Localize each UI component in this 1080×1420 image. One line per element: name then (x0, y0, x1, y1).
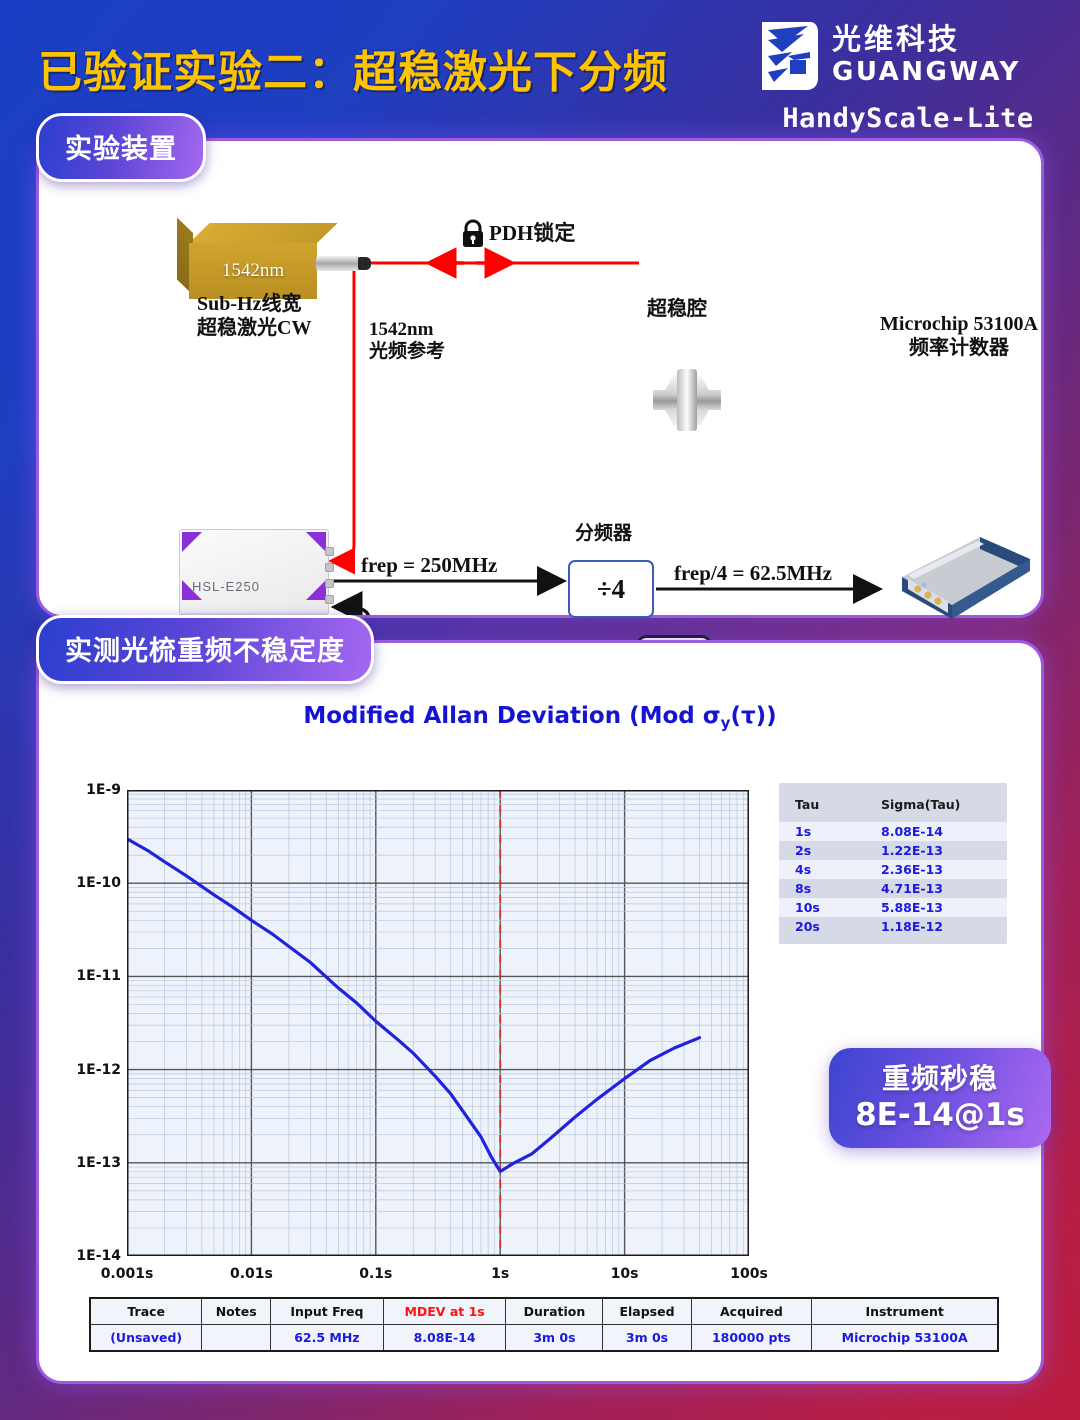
brand-name-cn: 光维科技 (832, 25, 1021, 54)
x-tick-label: 0.1s (346, 1266, 406, 1282)
meta-data-cell: (Unsaved) (90, 1325, 202, 1352)
meta-header-cell: Acquired (691, 1298, 812, 1325)
plot-svg (127, 790, 749, 1256)
y-tick-label: 1E-10 (63, 875, 121, 891)
badge-line-1: 重频秒稳 (882, 1064, 998, 1095)
tau-value: 20s (795, 919, 881, 934)
measurement-chart-card: 实测光梳重频不稳定度 Modified Allan Deviation (Mod… (36, 640, 1044, 1384)
hsl-device-marking: HSL-E250 (192, 579, 260, 594)
sigma-value: 4.71E-13 (881, 881, 943, 896)
laser-output-port (316, 256, 360, 271)
brand-name-en: GUANGWAY (832, 59, 1021, 85)
tau-table-row: 8s4.71E-13 (779, 879, 1007, 898)
chart-title: Modified Allan Deviation (Mod σy(τ)) (39, 703, 1041, 732)
meta-header-cell: Duration (506, 1298, 603, 1325)
frequency-divider-box: ÷4 (568, 560, 654, 618)
counter-caption: Microchip 53100A 频率计数器 (839, 313, 1079, 360)
tau-table-row: 10s5.88E-13 (779, 898, 1007, 917)
x-tick-label: 0.001s (97, 1266, 157, 1282)
tau-col-header: Tau (795, 797, 881, 812)
badge-line-2: 8E-14@1s (855, 1098, 1025, 1132)
lock-icon (460, 219, 486, 249)
divider-ratio: ÷4 (597, 574, 625, 605)
trace-meta-table: TraceNotesInput FreqMDEV at 1sDurationEl… (89, 1297, 999, 1352)
sigma-value: 5.88E-13 (881, 900, 943, 915)
tau-table-row: 4s2.36E-13 (779, 860, 1007, 879)
meta-table-header-row: TraceNotesInput FreqMDEV at 1sDurationEl… (90, 1298, 998, 1325)
sigma-value: 8.08E-14 (881, 824, 943, 839)
y-tick-label: 1E-12 (63, 1062, 121, 1078)
y-tick-label: 1E-14 (63, 1248, 121, 1264)
sigma-value: 2.36E-13 (881, 862, 943, 877)
stability-highlight-badge: 重频秒稳 8E-14@1s (829, 1048, 1051, 1148)
product-name: HandyScale-Lite (758, 103, 1058, 134)
frep-input-label: frep = 250MHz (361, 553, 497, 578)
tau-value: 10s (795, 900, 881, 915)
meta-data-cell (202, 1325, 271, 1352)
pdh-lock-label: PDH锁定 (489, 221, 575, 246)
divider-title: 分频器 (575, 523, 632, 545)
microchip-53100a-counter (884, 519, 1036, 631)
sigma-value: 1.22E-13 (881, 843, 943, 858)
meta-data-cell: 3m 0s (603, 1325, 691, 1352)
y-tick-label: 1E-9 (63, 782, 121, 798)
meta-data-cell: Microchip 53100A (812, 1325, 998, 1352)
tau-value: 8s (795, 881, 881, 896)
meta-header-cell: Notes (202, 1298, 271, 1325)
x-tick-label: 0.01s (221, 1266, 281, 1282)
cavity-caption: 超稳腔 (647, 298, 707, 322)
page-title: 已验证实验二：超稳激光下分频 (38, 36, 668, 100)
ultrastable-cavity-device (635, 369, 739, 431)
sigma-col-header: Sigma(Tau) (881, 797, 960, 812)
tau-table-row: 20s1.18E-12 (779, 917, 1007, 936)
meta-data-cell: 8.08E-14 (383, 1325, 506, 1352)
y-tick-label: 1E-13 (63, 1155, 121, 1171)
tau-value: 2s (795, 843, 881, 858)
allan-deviation-plot (127, 790, 749, 1256)
meta-header-cell: Elapsed (603, 1298, 691, 1325)
x-tick-label: 10s (595, 1266, 655, 1282)
meta-data-cell: 180000 pts (691, 1325, 812, 1352)
sigma-value: 1.18E-12 (881, 919, 943, 934)
laser-wavelength-label: 1542nm (189, 243, 317, 299)
meta-table-data-row: (Unsaved)62.5 MHz8.08E-143m 0s3m 0s18000… (90, 1325, 998, 1352)
meta-header-cell: MDEV at 1s (383, 1298, 506, 1325)
tau-value: 1s (795, 824, 881, 839)
optical-reference-label: 1542nm 光频参考 (369, 319, 445, 364)
tau-sigma-table: Tau Sigma(Tau) 1s8.08E-142s1.22E-134s2.3… (779, 783, 1007, 944)
tau-table-row: 1s8.08E-14 (779, 822, 1007, 841)
y-tick-label: 1E-11 (63, 968, 121, 984)
tau-table-row: 2s1.22E-13 (779, 841, 1007, 860)
meta-header-cell: Instrument (812, 1298, 998, 1325)
tau-table-header: Tau Sigma(Tau) (779, 789, 1007, 822)
meta-data-cell: 62.5 MHz (271, 1325, 384, 1352)
setup-diagram: 1542nm Sub-Hz线宽 超稳激光CW PDH锁定 超稳腔 1542nm … (39, 141, 1041, 615)
chart-card-pill: 实测光梳重频不稳定度 (36, 615, 374, 684)
laser-caption: Sub-Hz线宽 超稳激光CW (197, 293, 311, 340)
meta-header-cell: Input Freq (271, 1298, 384, 1325)
guangway-logo-icon (758, 16, 820, 94)
experiment-setup-card: 实验装置 (36, 138, 1044, 618)
meta-data-cell: 3m 0s (506, 1325, 603, 1352)
frep-output-label: frep/4 = 62.5MHz (674, 561, 832, 586)
x-tick-label: 1s (470, 1266, 530, 1282)
meta-header-cell: Trace (90, 1298, 202, 1325)
tau-value: 4s (795, 862, 881, 877)
brand-logo-block: 光维科技 GUANGWAY HandyScale-Lite (758, 16, 1058, 134)
hsl-e250-device: HSL-E250 (179, 529, 329, 629)
x-tick-label: 100s (719, 1266, 779, 1282)
